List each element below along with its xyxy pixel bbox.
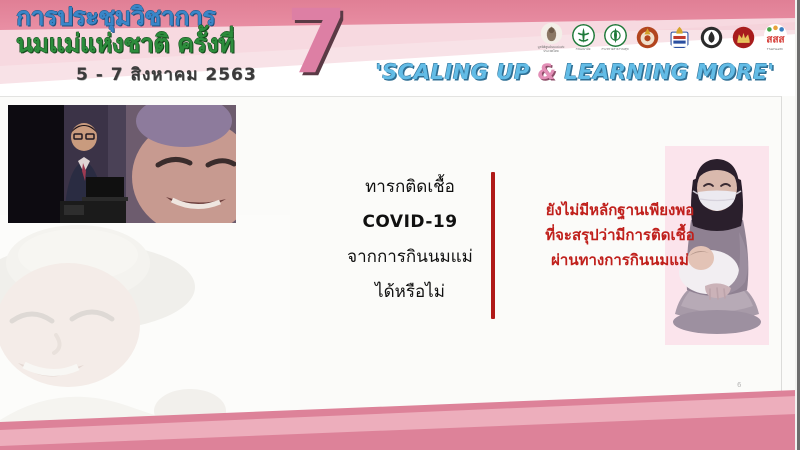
- logo-ministry-of-public-health-icon: [572, 24, 595, 47]
- presentation-slide: การประชุมวิชาการ นมแม่แห่งชาติ ครั้งที่ …: [0, 0, 800, 450]
- conference-header: การประชุมวิชาการ นมแม่แห่งชาติ ครั้งที่ …: [0, 0, 797, 96]
- logo-caption: ThaiHealth: [767, 47, 783, 51]
- logo-item: [729, 26, 757, 49]
- logo-royal-emblem-icon: [668, 26, 691, 49]
- answer-line-3: ผ่านทางการกินนมแม่: [500, 248, 740, 273]
- logo-royal-college-icon: [636, 26, 659, 49]
- logo-item: [633, 26, 661, 49]
- logo-department-of-health-icon: [604, 24, 627, 47]
- svg-text:สสส: สสส: [766, 34, 785, 45]
- tagline-part2: LEARNING MORE': [556, 60, 774, 84]
- logo-caption: กรมอนามัย: [576, 47, 591, 51]
- sponsor-logo-row: มูลนิธิศูนย์นมแม่แห่งประเทศไทย กรมอนามัย…: [537, 22, 789, 53]
- logo-thai-breastfeeding-foundation-icon: [540, 22, 563, 45]
- logo-item: [665, 26, 693, 49]
- logo-item: กระทรวงสาธารณสุข: [601, 24, 629, 51]
- logo-caption: มูลนิธิศูนย์นมแม่แห่งประเทศไทย: [537, 45, 565, 53]
- logo-university-black-icon: [700, 26, 723, 49]
- answer-line-1: ยังไม่มีหลักฐานเพียงพอ: [500, 198, 740, 223]
- question-line-4: ได้หรือไม่: [330, 275, 490, 310]
- logo-item: มูลนิธิศูนย์นมแม่แห่งประเทศไทย: [537, 22, 565, 53]
- slide-question: ทารกติดเชื้อ COVID-19 จากการกินนมแม่ ได้…: [330, 170, 490, 310]
- conference-title-line1: การประชุมวิชาการ: [16, 2, 296, 32]
- live-speaker-video[interactable]: [8, 105, 236, 223]
- tagline-part1: 'SCALING UP: [375, 60, 537, 84]
- slide-answer: ยังไม่มีหลักฐานเพียงพอ ที่จะสรุปว่ามีการ…: [500, 198, 740, 273]
- bottom-pink-band: [0, 390, 797, 450]
- conference-tagline: 'SCALING UP & LEARNING MORE': [360, 60, 790, 84]
- logo-thaihealth-sss-icon: สสส: [764, 24, 787, 47]
- logo-item: กรมอนามัย: [569, 24, 597, 51]
- conference-edition-number: 7: [286, 0, 347, 86]
- question-line-3: จากการกินนมแม่: [330, 240, 490, 275]
- logo-item: สสส ThaiHealth: [761, 24, 789, 51]
- conference-date: 5 - 7 สิงหาคม 2563: [76, 61, 296, 88]
- logo-item: [697, 26, 725, 49]
- question-line-1: ทารกติดเชื้อ: [330, 170, 490, 205]
- answer-line-2: ที่จะสรุปว่ามีการติดเชื้อ: [500, 223, 740, 248]
- question-line-2: COVID-19: [330, 205, 490, 240]
- red-vertical-divider: [491, 172, 495, 319]
- tagline-ampersand: &: [538, 60, 557, 84]
- logo-caption: กระทรวงสาธารณสุข: [601, 47, 628, 51]
- logo-crown-red-icon: [732, 26, 755, 49]
- conference-title-block: การประชุมวิชาการ นมแม่แห่งชาติ ครั้งที่ …: [16, 2, 296, 88]
- conference-title-line2: นมแม่แห่งชาติ ครั้งที่: [16, 29, 296, 59]
- slide-page-number: 6: [737, 381, 741, 389]
